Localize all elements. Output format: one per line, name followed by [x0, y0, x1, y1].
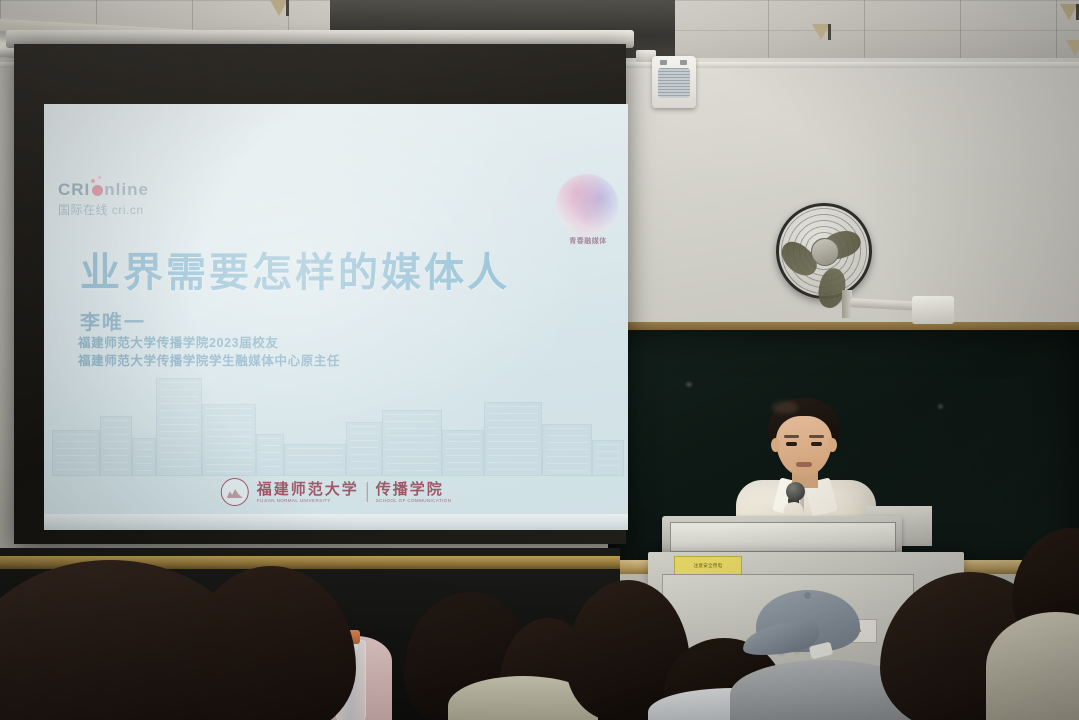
cri-online-logo: CRInline 国际在线 cri.cn	[58, 180, 149, 218]
presenter-face	[776, 416, 832, 476]
emblem-caption: 青春融媒体	[549, 238, 627, 254]
university-name-cn: 福建师范大学	[257, 481, 359, 498]
presenter-ear	[771, 438, 780, 452]
campus-skyline-watermark	[44, 366, 628, 476]
slide-title: 业界需要怎样的媒体人	[80, 240, 510, 298]
sprinkler-head-icon	[1066, 40, 1079, 56]
slide-credential-line-1: 福建师范大学传播学院2023届校友	[78, 332, 279, 351]
college-name-cn: 传播学院	[376, 481, 451, 498]
audience-baseball-cap	[742, 590, 862, 666]
presenter-eye	[786, 442, 797, 446]
presenter-mouth	[796, 462, 812, 467]
cap-button	[804, 592, 811, 599]
logo-divider	[367, 482, 368, 502]
sprinkler-head-icon	[270, 0, 288, 16]
screen-bottom-edge	[44, 514, 628, 530]
podium-warning-label: 注意安全用电	[674, 556, 742, 576]
speaker-grille-icon	[658, 68, 690, 98]
presenter-eyebrow	[809, 435, 824, 438]
speaker-indicator	[660, 60, 667, 65]
lecture-hall-screenshot: CRInline 国际在线 cri.cn 青春融媒体 业界需要怎样的媒体人 李唯…	[0, 0, 1079, 720]
event-emblem-icon	[556, 174, 618, 236]
projection-screen-frame: CRInline 国际在线 cri.cn 青春融媒体 业界需要怎样的媒体人 李唯…	[14, 44, 626, 544]
presenter-ear	[828, 438, 837, 452]
projected-slide: CRInline 国际在线 cri.cn 青春融媒体 业界需要怎样的媒体人 李唯…	[44, 104, 628, 528]
college-name-en: SCHOOL OF COMMUNICATION	[376, 498, 451, 503]
fan-hub	[811, 238, 839, 266]
cri-logo-subtitle: 国际在线 cri.cn	[58, 201, 149, 218]
presenter-eyebrow	[784, 435, 799, 438]
wall-fan	[776, 203, 872, 299]
wall-speaker-box	[652, 56, 696, 108]
speaker-indicator	[680, 60, 687, 65]
presenter-eye	[811, 442, 822, 446]
slide-speaker-name: 李唯一	[80, 306, 146, 335]
university-name-en: FUJIAN NORMAL UNIVERSITY	[257, 498, 359, 503]
sprinkler-head-icon	[812, 24, 830, 40]
university-seal-icon	[221, 478, 249, 506]
cri-logo-online: nline	[104, 180, 149, 200]
cri-dot-icon	[92, 185, 103, 196]
microphone-head-icon	[786, 482, 805, 501]
wall-junction-box	[912, 296, 954, 324]
monitor-screen	[670, 522, 896, 552]
cri-logo-mark: CRI	[58, 180, 90, 200]
sprinkler-head-icon	[1060, 4, 1078, 20]
university-logo-lockup: 福建师范大学 FUJIAN NORMAL UNIVERSITY 传播学院 SCH…	[221, 478, 451, 506]
